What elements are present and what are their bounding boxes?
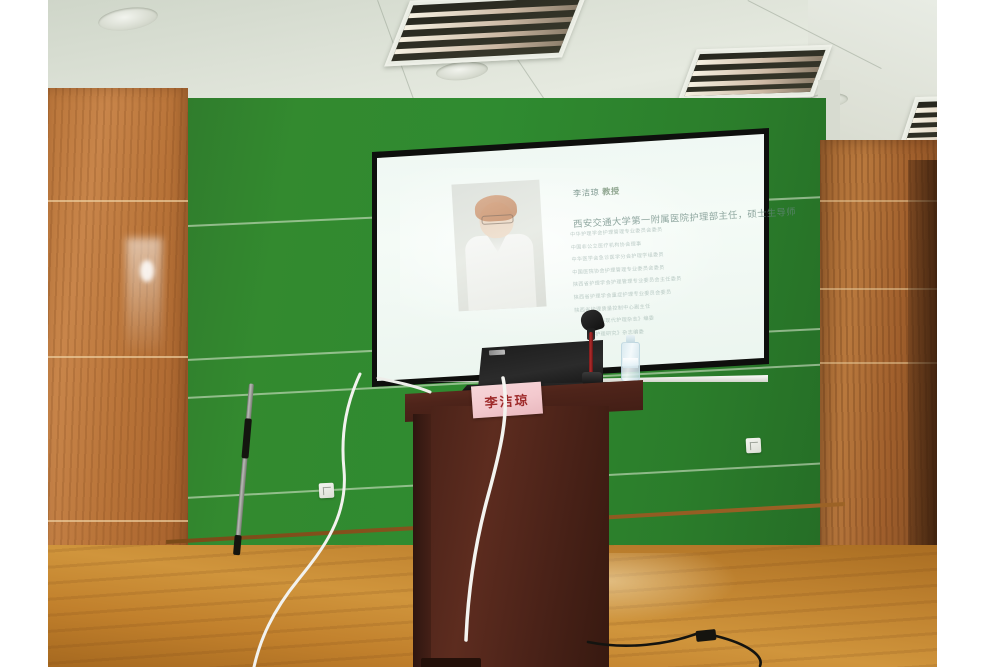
- list-item: 陕西省护理学会护理管理专业委员会主任委员: [573, 275, 682, 288]
- list-item: 中国医院协会护理管理专业委员会委员: [572, 263, 681, 276]
- troffer-inner: [684, 50, 825, 96]
- letterbox-right: [937, 0, 1000, 667]
- letterbox-left: [0, 0, 48, 667]
- podium-front-panel: [431, 406, 609, 667]
- list-item: 中华医学会急诊医学分会护理学组委员: [571, 250, 680, 263]
- troffer-inner: [391, 0, 581, 61]
- photo-frame: 李洁琼 教授 西安交通大学第一附属医院护理部主任，硕士生导师 中华护理学会护理管…: [48, 0, 937, 667]
- list-item: 中国非公立医疗机构协会理事: [571, 238, 680, 251]
- laptop-logo-icon: [489, 350, 505, 356]
- list-item: 陕西省护理学会重症护理专业委员会委员: [573, 288, 682, 301]
- podium-foot: [421, 658, 481, 667]
- podium[interactable]: 李洁琼: [393, 380, 643, 667]
- ceiling-light-fixture: [384, 0, 588, 67]
- glasses-icon: [481, 214, 513, 225]
- list-item: 《护理研究》杂志编委: [590, 326, 685, 338]
- wall-outlet[interactable]: [319, 483, 335, 499]
- microphone-stem: [589, 332, 593, 376]
- bottle-cap: [626, 335, 635, 343]
- wall-wood-shadow-right: [908, 160, 937, 570]
- ceiling-light-fixture: [678, 45, 833, 102]
- nameplate-text: 李洁琼: [484, 389, 530, 411]
- microphone-base: [582, 372, 602, 384]
- slide-title-suffix: 教授: [602, 187, 620, 197]
- room-photo: 李洁琼 教授 西安交通大学第一附属医院护理部主任，硕士生导师 中华护理学会护理管…: [0, 0, 1000, 667]
- slide-name-text: 李洁琼: [573, 188, 600, 198]
- slide-portrait-photo: [451, 180, 546, 312]
- bottle-label: [623, 358, 638, 368]
- slide-speaker-name: 李洁琼 教授: [573, 185, 620, 200]
- wood-gloss-reflection: [126, 238, 162, 358]
- water-bottle[interactable]: [621, 342, 640, 382]
- wood-light-reflection: [140, 260, 154, 282]
- slide-subtitle: 西安交通大学第一附属医院护理部主任，硕士生导师: [573, 204, 796, 230]
- nameplate: 李洁琼: [471, 382, 543, 419]
- power-adapter: [695, 629, 716, 642]
- wall-outlet[interactable]: [746, 438, 762, 454]
